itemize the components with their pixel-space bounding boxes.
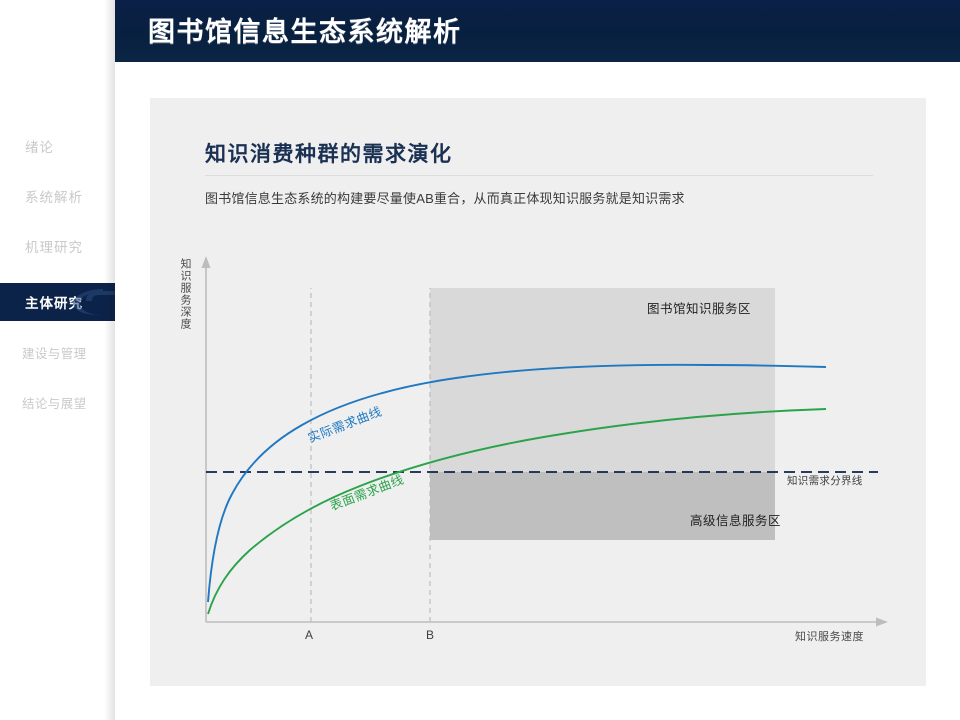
region-lower-label: 高级信息服务区 bbox=[690, 510, 781, 529]
x-axis-label: 知识服务速度 bbox=[795, 628, 864, 644]
sidebar-item-2[interactable]: 机理研究 bbox=[0, 227, 115, 265]
sidebar-item-0[interactable]: 绪论 bbox=[0, 127, 115, 165]
sidebar-item-5[interactable]: 结论与展望 bbox=[0, 383, 115, 421]
chart-svg bbox=[150, 98, 926, 686]
boundary-line-label: 知识需求分界线 bbox=[787, 473, 863, 488]
region-upper-label: 图书馆知识服务区 bbox=[647, 298, 751, 317]
tick-label-a: A bbox=[305, 628, 313, 642]
region-advanced-info-service bbox=[430, 472, 775, 540]
sidebar-item-3[interactable]: 主体研究 bbox=[0, 283, 115, 321]
sidebar-item-label: 建设与管理 bbox=[22, 343, 87, 362]
y-axis-arrow-icon bbox=[202, 256, 211, 268]
sidebar-item-label: 结论与展望 bbox=[22, 393, 87, 412]
sidebar-item-label: 机理研究 bbox=[25, 236, 83, 256]
content-card: 知识消费种群的需求演化 图书馆信息生态系统的构建要尽量使AB重合，从而真正体现知… bbox=[150, 98, 926, 686]
demand-evolution-chart: 知识服务深度 知识服务速度 图书馆知识服务区 高级信息服务区 知识需求分界线 A… bbox=[150, 98, 926, 686]
sidebar-item-label: 主体研究 bbox=[25, 292, 83, 312]
page-title: 图书馆信息生态系统解析 bbox=[148, 10, 462, 49]
tick-label-b: B bbox=[426, 628, 434, 642]
sidebar: 绪论 系统解析 机理研究 主体研究 建设与管理 结论与展望 bbox=[0, 0, 115, 720]
sidebar-item-label: 绪论 bbox=[25, 136, 54, 156]
sidebar-item-4[interactable]: 建设与管理 bbox=[0, 333, 115, 371]
sidebar-item-label: 系统解析 bbox=[25, 186, 83, 206]
header-bar: 图书馆信息生态系统解析 bbox=[115, 0, 960, 62]
sidebar-item-1[interactable]: 系统解析 bbox=[0, 177, 115, 215]
x-axis-arrow-icon bbox=[876, 618, 888, 627]
y-axis-label: 知识服务深度 bbox=[177, 258, 193, 330]
